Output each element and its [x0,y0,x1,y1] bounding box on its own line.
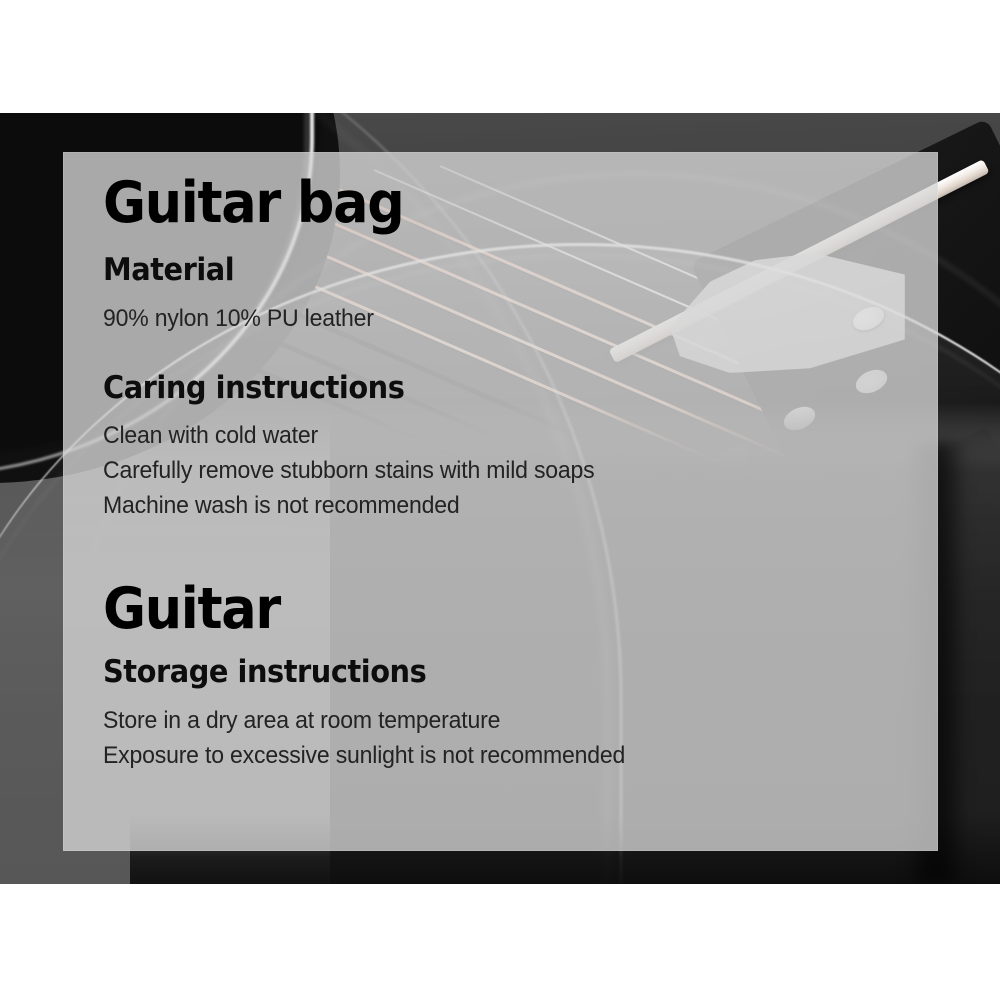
spacer [103,336,903,372]
section-title-guitar: Guitar [103,581,839,638]
material-line-1: 90% nylon 10% PU leather [103,301,871,336]
spacer [103,287,903,301]
heading-storage-instructions: Storage instructions [103,656,847,689]
spacer [103,404,903,418]
caring-line-2: Carefully remove stubborn stains with mi… [103,453,871,488]
section-title-guitar-bag: Guitar bag [103,175,839,232]
caring-line-1: Clean with cold water [103,418,871,453]
heading-caring-instructions: Caring instructions [103,372,847,405]
storage-line-2: Exposure to excessive sunlight is not re… [103,738,871,773]
product-info-image: Guitar bag Material 90% nylon 10% PU lea… [0,0,1000,1000]
heading-material: Material [103,254,847,287]
overlay-text-content: Guitar bag Material 90% nylon 10% PU lea… [103,175,903,773]
caring-line-3: Machine wash is not recommended [103,488,871,523]
spacer [103,523,903,581]
storage-line-1: Store in a dry area at room temperature [103,703,871,738]
spacer [103,689,903,703]
